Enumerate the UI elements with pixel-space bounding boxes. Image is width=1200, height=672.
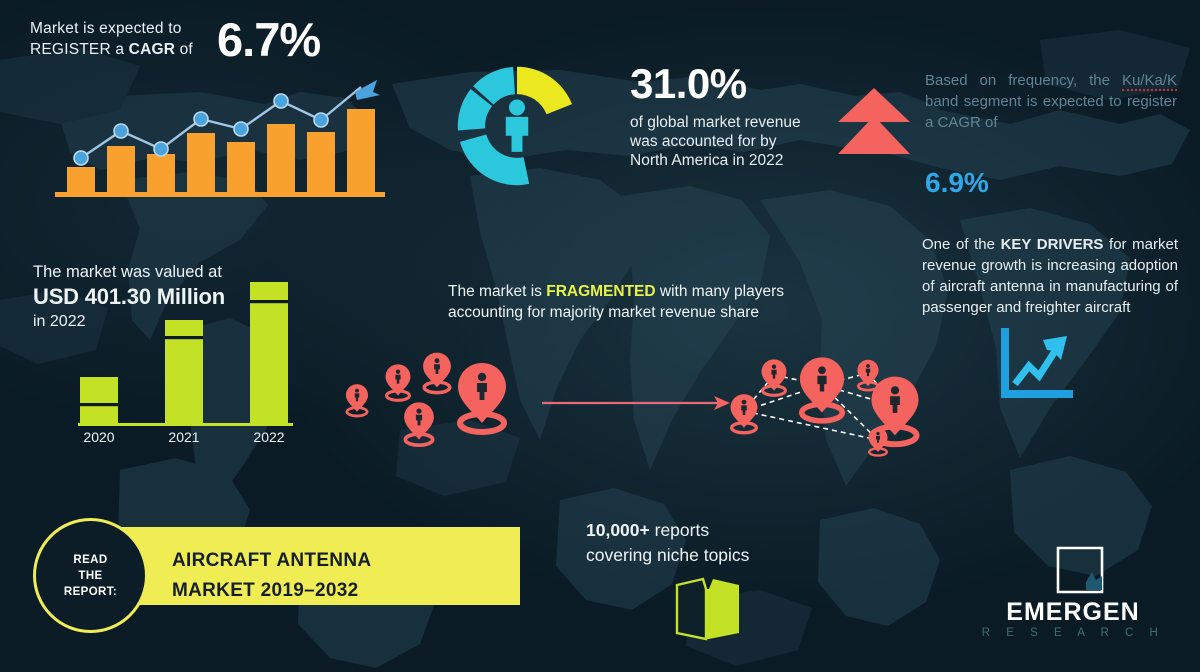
report-title-line-2: MARKET 2019–2032 [172, 576, 517, 606]
double-up-arrow-icon [836, 84, 912, 158]
bar-label-2022: 2022 [253, 429, 284, 445]
report-title: AIRCRAFT ANTENNA MARKET 2019–2032 [172, 546, 517, 606]
frequency-text-post: band segment is expected to register a C… [925, 93, 1177, 131]
pin-cluster-left [346, 353, 506, 446]
map-pin-icon [458, 363, 506, 432]
bar-label-2021: 2021 [168, 429, 199, 445]
map-pin-icon [800, 357, 844, 420]
frequency-text: Based on frequency, the Ku/Ka/K band seg… [925, 70, 1177, 133]
key-drivers-bold: KEY DRIVERS [1001, 236, 1104, 253]
donut-segment-north-america [517, 67, 572, 114]
reports-count: 10,000+ [586, 520, 650, 540]
bar-2020 [80, 377, 118, 425]
map-pin-icon [404, 402, 434, 445]
growth-chart-icon [995, 328, 1073, 400]
map-pin-icon [386, 364, 411, 400]
map-pin-icon [731, 394, 758, 433]
read-the-report-label: READ THE REPORT: [33, 518, 148, 633]
donut-value: 31.0% [630, 60, 747, 108]
fragmented-text: The market is FRAGMENTED with many playe… [448, 281, 784, 323]
pin-cluster-right [731, 357, 919, 455]
donut-description: of global market revenue was accounted f… [630, 113, 815, 170]
key-drivers-pre: One of the [922, 236, 1001, 253]
infographic-canvas: Market is expected to REGISTER a CAGR of… [0, 0, 1200, 672]
open-book-icon [673, 577, 743, 643]
read-label-line-2: THE [64, 568, 117, 584]
header-cagr-text: Market is expected to REGISTER a CAGR of [30, 18, 220, 60]
market-value-bar-chart: 2020 2021 2022 [60, 270, 310, 445]
frequency-cagr-value: 6.9% [925, 167, 989, 199]
header-line-1: Market is expected to [30, 20, 182, 37]
header-line-2-bold: CAGR [129, 41, 175, 58]
chart-arrow-head-icon [355, 80, 380, 100]
frequency-band-label: Ku/Ka/K [1122, 72, 1177, 91]
green-chart-labels: 2020 2021 2022 [83, 429, 284, 445]
growth-trend-chart [55, 78, 385, 208]
square-outline-logo-icon [1056, 546, 1104, 594]
map-pin-icon [762, 359, 787, 395]
region-share-donut-chart [443, 50, 591, 202]
emergen-research-logo[interactable]: EMERGEN R E S E A R C H [960, 546, 1186, 646]
logo-name: EMERGEN [960, 598, 1186, 626]
bar-2022 [250, 282, 288, 425]
fragmented-highlight: FRAGMENTED [546, 283, 655, 300]
bar-label-2020: 2020 [83, 429, 114, 445]
header-line-2-post: of [175, 41, 193, 58]
header-cagr-value: 6.7% [217, 12, 320, 68]
market-fragmentation-diagram [330, 348, 930, 468]
report-title-line-1: AIRCRAFT ANTENNA [172, 546, 517, 576]
fragmented-pre: The market is [448, 283, 546, 300]
bar-2021 [165, 320, 203, 425]
chart-bars [67, 109, 375, 194]
read-label-line-1: READ [64, 552, 117, 568]
header-line-2-pre: REGISTER a [30, 41, 129, 58]
green-chart-baseline [78, 423, 293, 426]
map-pin-icon [423, 353, 451, 393]
person-icon [506, 100, 528, 152]
map-pin-icon [346, 384, 368, 416]
reports-line-1-rest: reports [650, 520, 709, 540]
map-pin-icon [868, 428, 887, 456]
reports-text: 10,000+ reports covering niche topics [586, 518, 856, 568]
key-drivers-text: One of the KEY DRIVERS for market revenu… [922, 234, 1178, 318]
green-bars [80, 282, 288, 425]
chart-baseline [55, 192, 385, 197]
reports-line-2: covering niche topics [586, 545, 749, 565]
frequency-text-pre: Based on frequency, the [925, 72, 1122, 89]
logo-subtitle: R E S E A R C H [960, 626, 1186, 640]
read-label-line-3: REPORT: [64, 584, 117, 600]
map-pin-icon [857, 360, 878, 390]
transition-arrow-icon [542, 396, 730, 410]
